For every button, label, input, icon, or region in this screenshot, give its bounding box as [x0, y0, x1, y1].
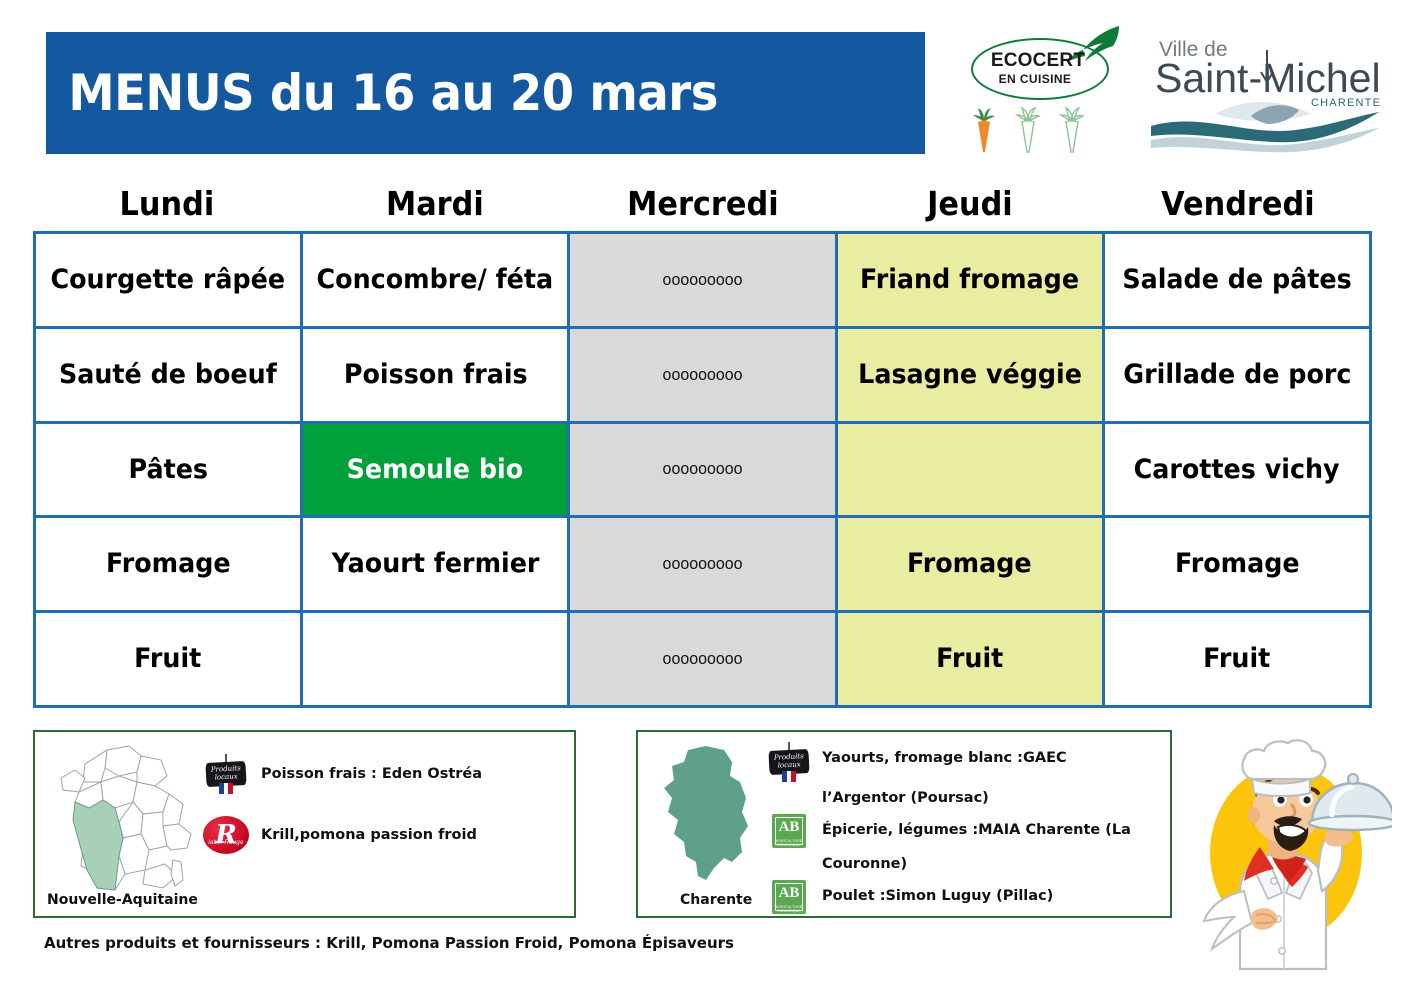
day-header-vendredi: Vendredi — [1115, 182, 1361, 230]
supplier-label: l’Argentor (Poursac) — [822, 782, 989, 814]
menu-cell-jeudi-3 — [838, 424, 1105, 519]
supplier-label: Épicerie, légumes :MAIA Charente (La — [822, 814, 1131, 846]
menu-cell-mercredi-4: ooooooooo — [570, 518, 837, 613]
table-row: Courgette râpée Concombre/ féta oooooooo… — [36, 234, 1372, 329]
header-banner: MENUS du 16 au 20 mars — [46, 32, 925, 154]
ab-organic-icon: AB AGRICULTUREBIOLOGIQUE — [772, 880, 806, 914]
produits-locaux-icon: Produitslocaux — [206, 754, 246, 794]
menu-cell-mardi-4: Yaourt fermier — [303, 518, 570, 613]
table-row: Sauté de boeuf Poisson frais ooooooooo L… — [36, 329, 1372, 424]
map-caption-right: Charente — [680, 892, 752, 908]
supplier-label: Krill,pomona passion froid — [261, 827, 477, 843]
saint-michel-logo: Ville de Saint-Michel CHARENTE — [1143, 30, 1385, 158]
ab-organic-icon: AB AGRICULTUREBIOLOGIQUE — [772, 814, 806, 848]
menu-cell-mercredi-2: ooooooooo — [570, 329, 837, 424]
info-box-nouvelle-aquitaine: Nouvelle-Aquitaine Produitslocaux Poisso… — [33, 730, 576, 918]
table-row: Pâtes Semoule bio ooooooooo Carottes vic… — [36, 424, 1372, 519]
list-item: AB AGRICULTUREBIOLOGIQUE Poulet :Simon L… — [766, 880, 1166, 914]
carrot-icon-outline — [1059, 106, 1085, 154]
ecocert-subtitle: EN CUISINE — [963, 72, 1107, 86]
supplier-list-left: Produitslocaux Poisson frais : Eden Ostr… — [203, 754, 482, 876]
table-row: Fromage Yaourt fermier ooooooooo Fromage… — [36, 518, 1372, 613]
charente-map-icon — [654, 742, 766, 897]
info-box-charente: Charente Produitslocaux Yaourts, fromage… — [636, 730, 1172, 918]
day-header-mercredi: Mercredi — [579, 182, 825, 230]
list-item: Produitslocaux Yaourts, fromage blanc :G… — [766, 742, 1166, 782]
ecocert-name: ECOCERT — [963, 50, 1113, 72]
list-item: Couronne) — [766, 848, 1166, 880]
ecocert-badge: ECOCERT EN CUISINE — [963, 28, 1118, 106]
day-header-row: Lundi Mardi Mercredi Jeudi Vendredi — [33, 182, 1372, 230]
menu-cell-mardi-5 — [303, 613, 570, 708]
menu-cell-mardi-3: Semoule bio — [303, 424, 570, 519]
table-row: Fruit ooooooooo Fruit Fruit — [36, 613, 1372, 708]
supplier-label: Poisson frais : Eden Ostréa — [261, 766, 482, 782]
day-header-jeudi: Jeudi — [847, 182, 1093, 230]
list-item: AB AGRICULTUREBIOLOGIQUE Épicerie, légum… — [766, 814, 1166, 848]
ecocert-carrot-rating — [971, 106, 1085, 154]
saint-michel-line3: CHARENTE — [1311, 97, 1381, 109]
menu-cell-mardi-1: Concombre/ féta — [303, 234, 570, 329]
france-map-icon — [45, 738, 193, 903]
carrot-icon-filled — [971, 106, 997, 154]
menu-cell-lundi-2: Sauté de boeuf — [36, 329, 303, 424]
menu-cell-jeudi-5: Fruit — [838, 613, 1105, 708]
menu-cell-vendredi-3: Carottes vichy — [1105, 424, 1372, 519]
chef-mascot-icon — [1182, 735, 1392, 985]
menu-cell-mercredi-3: ooooooooo — [570, 424, 837, 519]
menu-cell-vendredi-2: Grillade de porc — [1105, 329, 1372, 424]
title-banner: MENUS du 16 au 20 mars — [46, 32, 925, 154]
carrot-icon-outline — [1015, 106, 1041, 154]
menu-cell-jeudi-1: Friand fromage — [838, 234, 1105, 329]
menu-cell-vendredi-5: Fruit — [1105, 613, 1372, 708]
menu-cell-mardi-2: Poisson frais — [303, 329, 570, 424]
day-header-mardi: Mardi — [312, 182, 558, 230]
menu-cell-mercredi-5: ooooooooo — [570, 613, 837, 708]
produits-locaux-icon: Produitslocaux — [769, 742, 809, 782]
menu-cell-jeudi-2: Lasagne véggie — [838, 329, 1105, 424]
supplier-label: Couronne) — [822, 848, 907, 880]
menu-cell-vendredi-1: Salade de pâtes — [1105, 234, 1372, 329]
ecocert-logo: ECOCERT EN CUISINE — [963, 28, 1123, 163]
supplier-label: Poulet :Simon Luguy (Pillac) — [822, 880, 1053, 912]
menu-cell-lundi-4: Fromage — [36, 518, 303, 613]
menu-cell-lundi-5: Fruit — [36, 613, 303, 708]
list-item: R label Rouge Krill,pomona passion froid — [203, 816, 482, 854]
label-rouge-icon: R label Rouge — [203, 816, 249, 854]
menu-cell-lundi-3: Pâtes — [36, 424, 303, 519]
list-item: Produitslocaux Poisson frais : Eden Ostr… — [203, 754, 482, 794]
menu-cell-mercredi-1: ooooooooo — [570, 234, 837, 329]
menu-table: Courgette râpée Concombre/ féta oooooooo… — [33, 231, 1372, 708]
menu-cell-lundi-1: Courgette râpée — [36, 234, 303, 329]
footer-note: Autres produits et fournisseurs : Krill,… — [44, 934, 734, 952]
page-title: MENUS du 16 au 20 mars — [46, 64, 718, 122]
list-item: l’Argentor (Poursac) — [766, 782, 1166, 814]
map-caption-left: Nouvelle-Aquitaine — [47, 892, 198, 908]
supplier-label: Yaourts, fromage blanc :GAEC — [822, 742, 1067, 774]
menu-cell-jeudi-4: Fromage — [838, 518, 1105, 613]
menu-cell-vendredi-4: Fromage — [1105, 518, 1372, 613]
supplier-list-right: Produitslocaux Yaourts, fromage blanc :G… — [766, 742, 1166, 914]
day-header-lundi: Lundi — [44, 182, 290, 230]
